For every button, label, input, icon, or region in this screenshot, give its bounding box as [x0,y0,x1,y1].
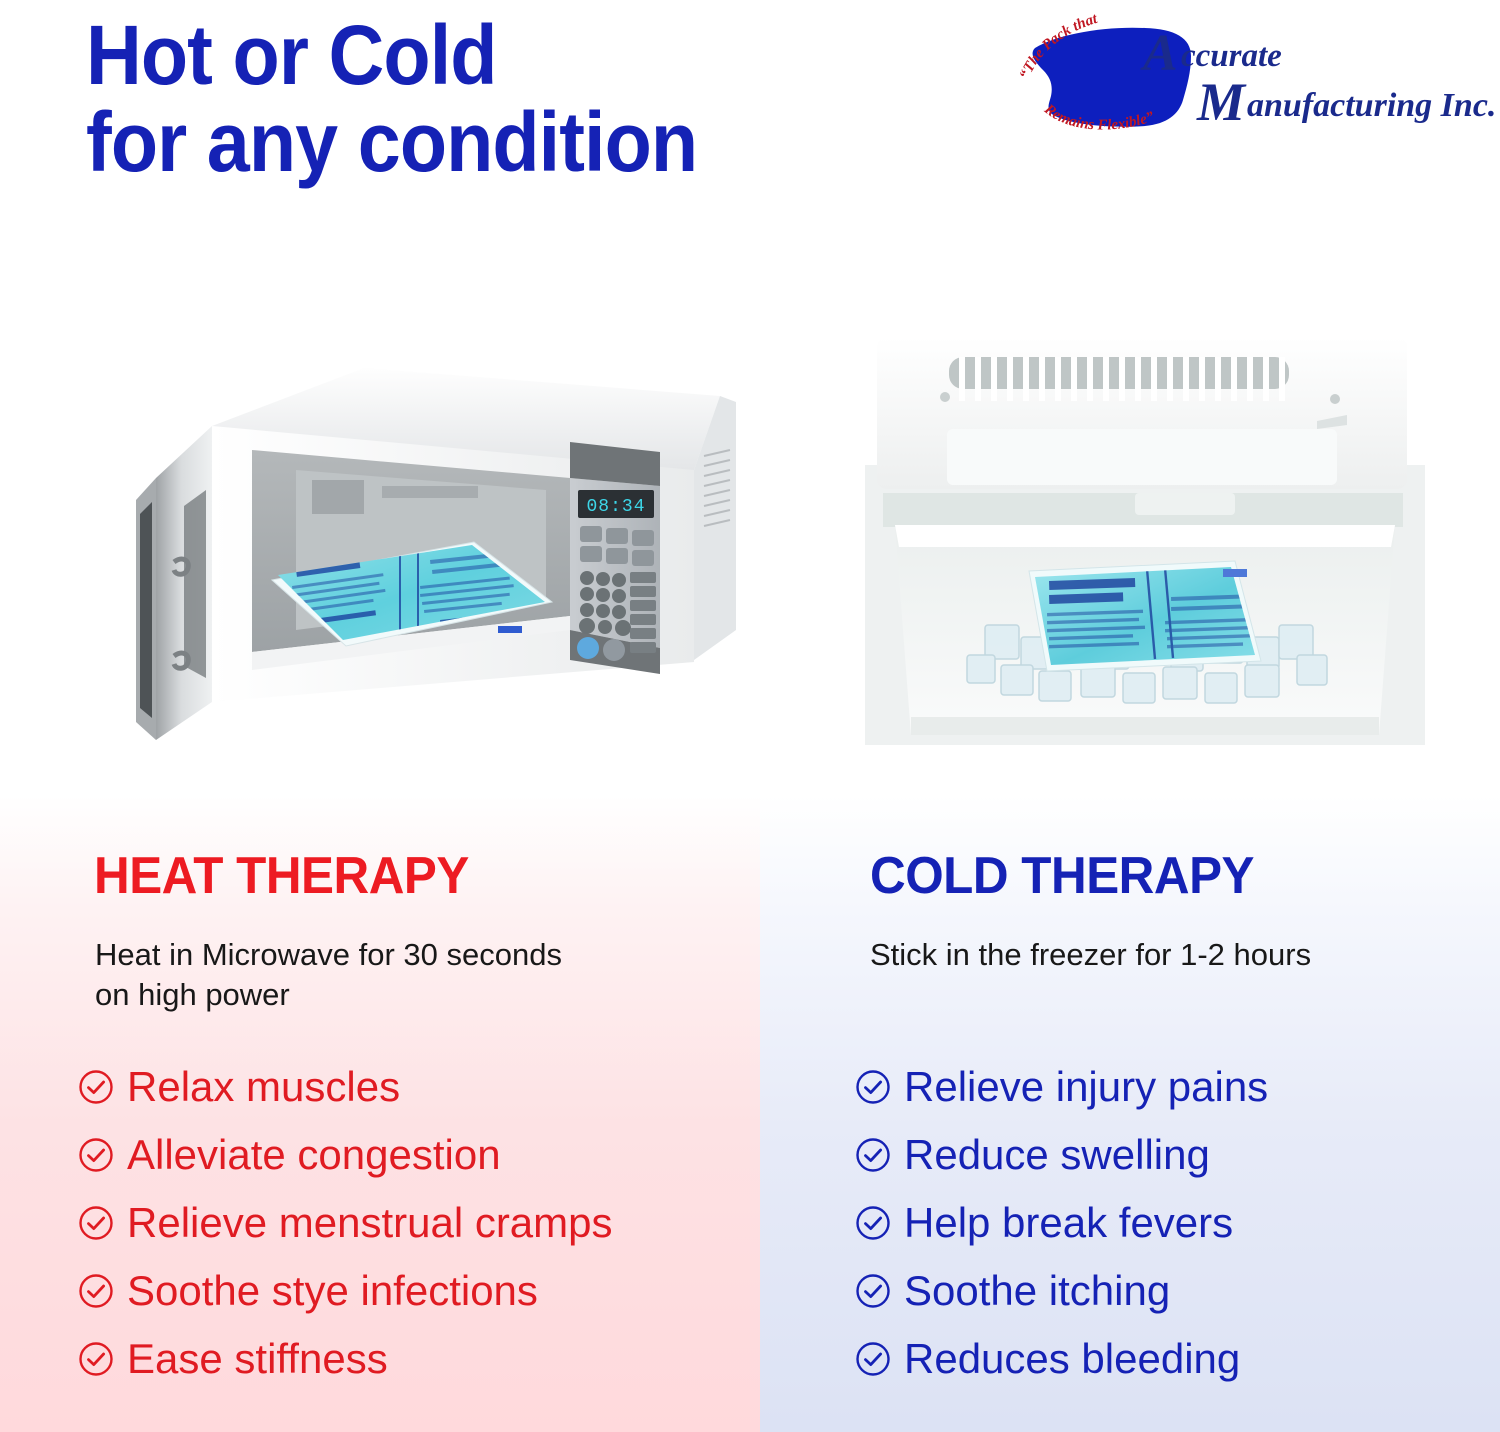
beverage-icon [580,546,602,562]
check-circle-icon [855,1341,891,1377]
freezer-vent-panel [877,337,1407,489]
check-circle-icon [78,1273,114,1309]
freezer-shelf-bracket [1135,493,1235,515]
list-item-label: Reduce swelling [904,1134,1210,1176]
list-item: Help break fevers [855,1189,1268,1257]
power-level-button [630,572,656,583]
potato-icon [606,528,628,544]
microwave-photo: 08:34 [100,330,780,780]
cold-benefit-list: Relieve injury pains Reduce swelling Hel… [855,1053,1268,1393]
freezer-photo [835,325,1455,775]
cold-therapy-panel: COLD THERAPY Stick in the freezer for 1-… [760,795,1500,1432]
gel-pack-freezer [1029,561,1261,671]
heat-therapy-title: HEAT THERAPY [94,846,469,906]
check-circle-icon [78,1137,114,1173]
list-item: Ease stiffness [78,1325,613,1393]
dinner-plate-icon [632,550,654,566]
list-item: Relieve menstrual cramps [78,1189,613,1257]
list-item-label: Soothe itching [904,1270,1170,1312]
microwave-door-window [184,490,206,678]
list-item: Reduce swelling [855,1121,1268,1189]
heat-therapy-panel: HEAT THERAPY Heat in Microwave for 30 se… [0,795,760,1432]
logo-brand-line1: ccurate [1181,38,1282,74]
check-circle-icon [78,1069,114,1105]
cook-button [630,586,656,597]
cold-therapy-instructions: Stick in the freezer for 1-2 hours [870,935,1311,975]
defrost-by-weight-button [630,628,656,639]
microwave-clock-value: 08:34 [586,497,645,517]
freezer-panel-screw-right [1330,394,1340,404]
list-item: Soothe stye infections [78,1257,613,1325]
microwave-control-panel: 08:34 [570,442,660,674]
freezer-drawer-front [911,717,1379,735]
freezer-drawer-rim [895,525,1395,547]
microwave-door-glass-strip [140,502,152,718]
company-logo: “The Pack that Remains Flexible” A ccura… [1005,8,1495,148]
check-circle-icon [78,1205,114,1241]
cold-therapy-title: COLD THERAPY [870,846,1254,906]
product-photo-row: 08:34 [0,300,1500,800]
list-item-label: Help break fevers [904,1202,1233,1244]
check-circle-icon [855,1273,891,1309]
pizza-icon [632,530,654,546]
speed-defrost-button [630,642,656,653]
page-title: Hot or Cold for any condition [86,12,697,185]
list-item-label: Relieve menstrual cramps [127,1202,613,1244]
list-item-label: Alleviate congestion [127,1134,501,1176]
header-banner: Hot or Cold for any condition “The Pack … [0,0,1500,300]
list-item-label: Soothe stye infections [127,1270,538,1312]
popcorn-icon [580,526,602,542]
logo-brand-initial-a: A [1140,25,1178,82]
list-item: Relax muscles [78,1053,613,1121]
list-item-label: Relieve injury pains [904,1066,1268,1108]
check-circle-icon [855,1205,891,1241]
pause-cancel-button [603,639,625,661]
check-circle-icon [78,1341,114,1377]
start-button [577,637,599,659]
gel-pack-seal-tab [498,626,522,633]
timer-button [630,600,656,611]
list-item: Soothe itching [855,1257,1268,1325]
freezer-panel-front-lip [947,429,1337,485]
logo-brand-initial-m: M [1196,72,1247,132]
therapy-panels: HEAT THERAPY Heat in Microwave for 30 se… [0,795,1500,1432]
check-circle-icon [855,1069,891,1105]
cook-by-weight-button [630,614,656,625]
freezer-panel-screw-left [940,392,950,402]
microwave-door [136,426,212,740]
list-item-label: Ease stiffness [127,1338,388,1380]
heat-benefit-list: Relax muscles Alleviate congestion Relie… [78,1053,613,1393]
list-item: Reduces bleeding [855,1325,1268,1393]
logo-brand-line2: anufacturing Inc. [1247,87,1495,124]
list-item: Alleviate congestion [78,1121,613,1189]
list-item-label: Reduces bleeding [904,1338,1240,1380]
list-item: Relieve injury pains [855,1053,1268,1121]
list-item-label: Relax muscles [127,1066,400,1108]
gel-pack-seal-tab [1223,569,1247,577]
heat-therapy-instructions: Heat in Microwave for 30 seconds on high… [95,935,562,1014]
check-circle-icon [855,1137,891,1173]
reheat-icon [606,548,628,564]
